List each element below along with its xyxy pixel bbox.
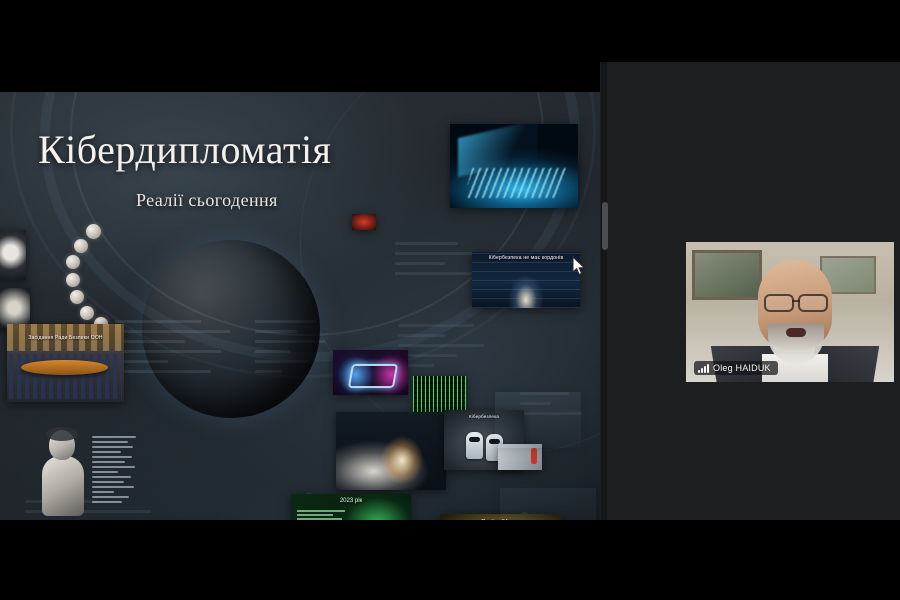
- rock-thumbnail-image: [0, 288, 30, 328]
- participant-mouth: [786, 328, 806, 337]
- rocket-launch-night-image: Кібербезпека не має кордонів: [472, 252, 580, 308]
- statue-body: [42, 456, 84, 516]
- moon-phase-4: [66, 273, 80, 287]
- image-caption: 2023 рік: [291, 498, 411, 504]
- background-panel: [500, 488, 596, 520]
- participant-name: Oleg HAIDUK: [713, 363, 771, 373]
- moon-phase-1: [86, 224, 101, 239]
- image-caption: Засідання Ради Безпеки ООН: [7, 335, 124, 341]
- moon-thumbnail-image: [0, 230, 26, 280]
- moon-phase-2: [74, 239, 88, 253]
- slide-title: Кібердипломатія: [38, 126, 331, 173]
- neon-outline: [347, 364, 397, 388]
- statue-hair: [46, 427, 78, 441]
- moon-phase-6: [80, 306, 94, 320]
- background-code-text: [398, 324, 488, 374]
- participant-name-badge: Oleg HAIDUK: [694, 361, 778, 375]
- slide-subtitle: Реалії сьогодення: [136, 190, 278, 211]
- panel-scrollbar-thumb[interactable]: [602, 202, 608, 250]
- glasses-icon: [762, 294, 830, 308]
- participant-video-tile[interactable]: Oleg HAIDUK: [686, 242, 894, 382]
- statue-of-david-image: [40, 430, 86, 515]
- slide-body-text: [92, 436, 138, 506]
- mouse-pointer: [572, 256, 586, 276]
- moon-phase-5: [70, 290, 84, 304]
- wall-picture-frame: [692, 250, 762, 300]
- screen-root: ν Σ λ ƒ Кібердипломатія Реалії сьогоденн…: [0, 0, 900, 600]
- green-matrix-code-panel: [413, 376, 466, 414]
- un-security-council-image: Засідання Ради Безпеки ООН: [7, 324, 124, 402]
- participant-video-panel: Oleg HAIDUK: [600, 62, 900, 520]
- robot-figure: [466, 432, 483, 459]
- red-spark-image: [352, 214, 376, 230]
- rocket-plume-image: [336, 412, 446, 490]
- shared-screen-slide[interactable]: ν Σ λ ƒ Кібердипломатія Реалії сьогоденн…: [0, 92, 600, 520]
- globe-shading: [142, 240, 320, 418]
- matrix-rain: [413, 376, 466, 414]
- laptop-keys: [464, 168, 567, 198]
- image-body-text: [297, 510, 349, 520]
- neon-cyber-computer-image: [333, 350, 408, 395]
- green-hacker-image: 2023 рік: [291, 494, 411, 520]
- glowing-blue-laptop-keyboard-image: [450, 124, 578, 208]
- earth-globe-graphic: [142, 240, 320, 418]
- moon-phase-3: [66, 255, 80, 269]
- card-accent: [531, 448, 537, 464]
- panel-scrollbar-track[interactable]: [601, 62, 607, 520]
- signal-bars-icon: [698, 364, 709, 373]
- background-panel: [495, 392, 581, 448]
- image-caption: Кібербезпека не має кордонів: [472, 255, 580, 261]
